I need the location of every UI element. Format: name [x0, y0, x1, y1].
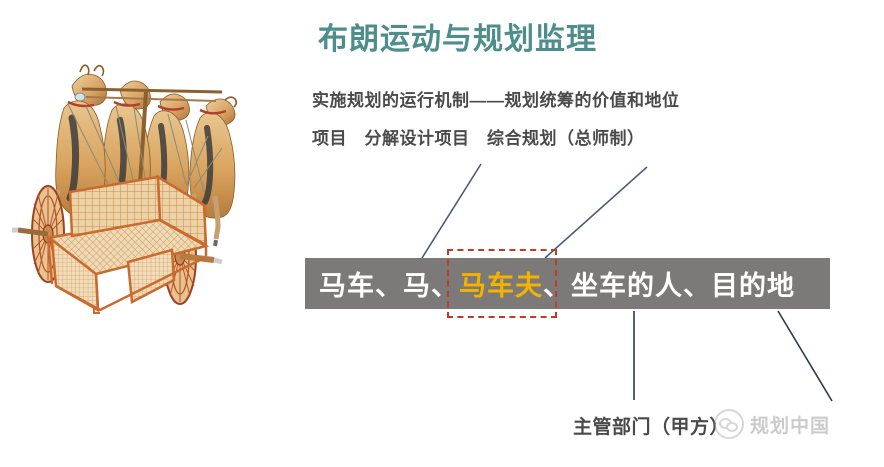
wechat-logo-icon — [714, 409, 744, 439]
banner-segment-1: 马车、马、 — [305, 264, 459, 303]
connector-line-1 — [422, 164, 481, 258]
slide-canvas: 布朗运动与规划监理 实施规划的运行机制——规划统筹的价值和地位 项目 分解设计项… — [0, 0, 884, 467]
bottom-label-authority: 主管部门（甲方） — [573, 412, 729, 439]
highlight-dashed-box — [447, 249, 557, 318]
banner-segment-3: 、坐车的人、目的地 — [543, 264, 795, 303]
page-title: 布朗运动与规划监理 — [318, 14, 597, 58]
watermark-text: 规划中国 — [750, 411, 830, 438]
connector-line-2 — [545, 167, 647, 258]
watermark: 规划中国 — [714, 409, 830, 439]
subtitle-line-2: 项目 分解设计项目 综合规划（总师制） — [312, 124, 645, 149]
chariot-illustration — [8, 44, 288, 316]
connector-line-4 — [778, 311, 832, 401]
key-roles-banner: 马车、马、 马车夫 、坐车的人、目的地 — [305, 258, 830, 309]
cart — [12, 177, 222, 313]
subtitle-line-1: 实施规划的运行机制——规划统筹的价值和地位 — [312, 86, 680, 111]
